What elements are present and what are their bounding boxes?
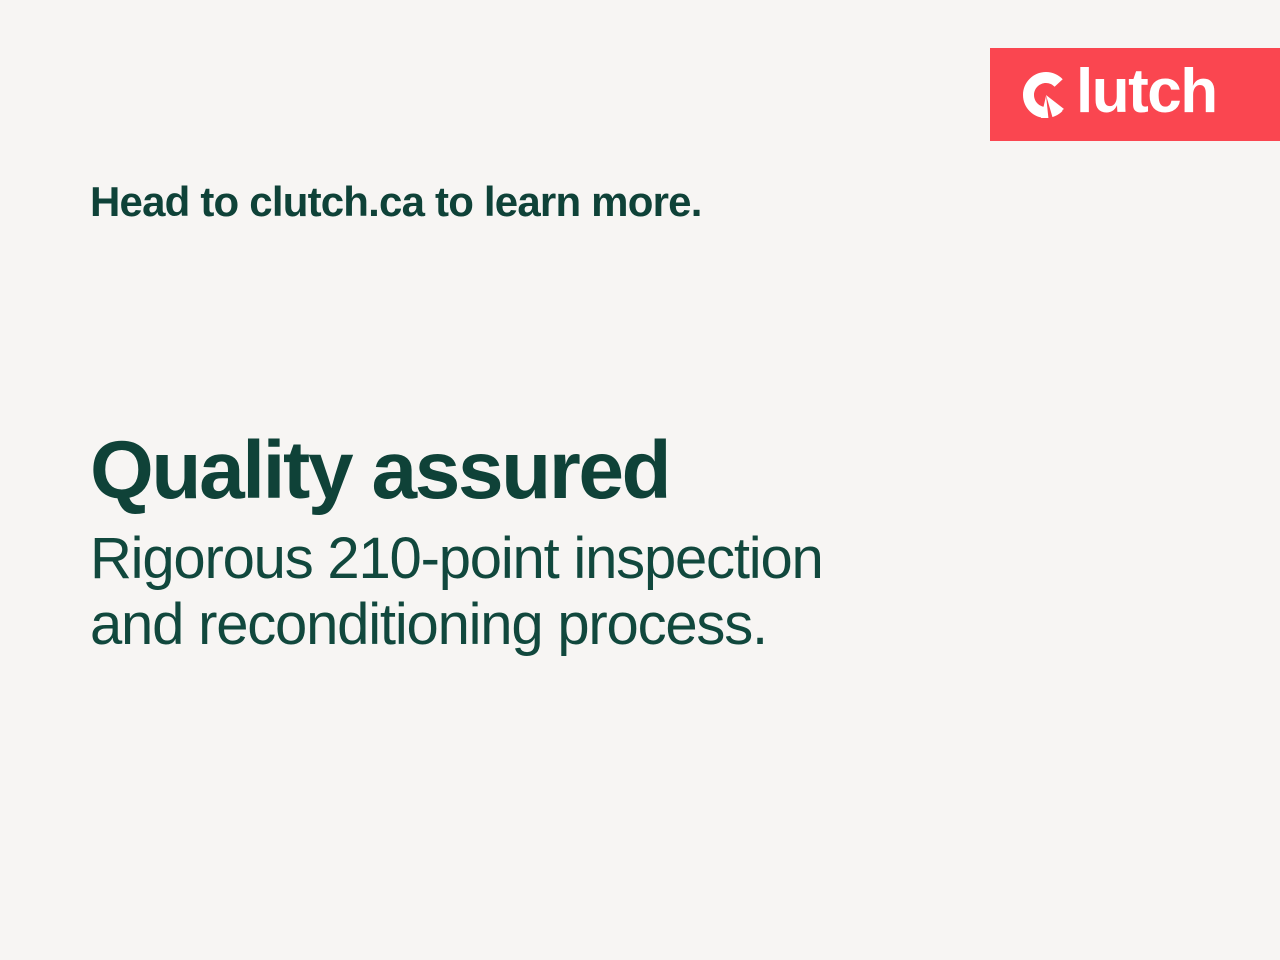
slide-canvas: lutch Head to clutch.ca to learn more. Q… [0,0,1280,960]
clutch-c-mark-icon [1020,69,1072,121]
kicker-text: Head to clutch.ca to learn more. [90,178,702,226]
subcopy: Rigorous 210-point inspection and recond… [90,526,990,657]
subcopy-line-2: and reconditioning process. [90,592,990,658]
brand-banner[interactable]: lutch [990,48,1280,141]
main-copy-block: Quality assured Rigorous 210-point inspe… [90,430,990,657]
brand-lockup: lutch [1020,67,1217,123]
subcopy-line-1: Rigorous 210-point inspection [90,526,990,592]
page-title: Quality assured [90,430,990,512]
brand-wordmark: lutch [1076,61,1217,123]
